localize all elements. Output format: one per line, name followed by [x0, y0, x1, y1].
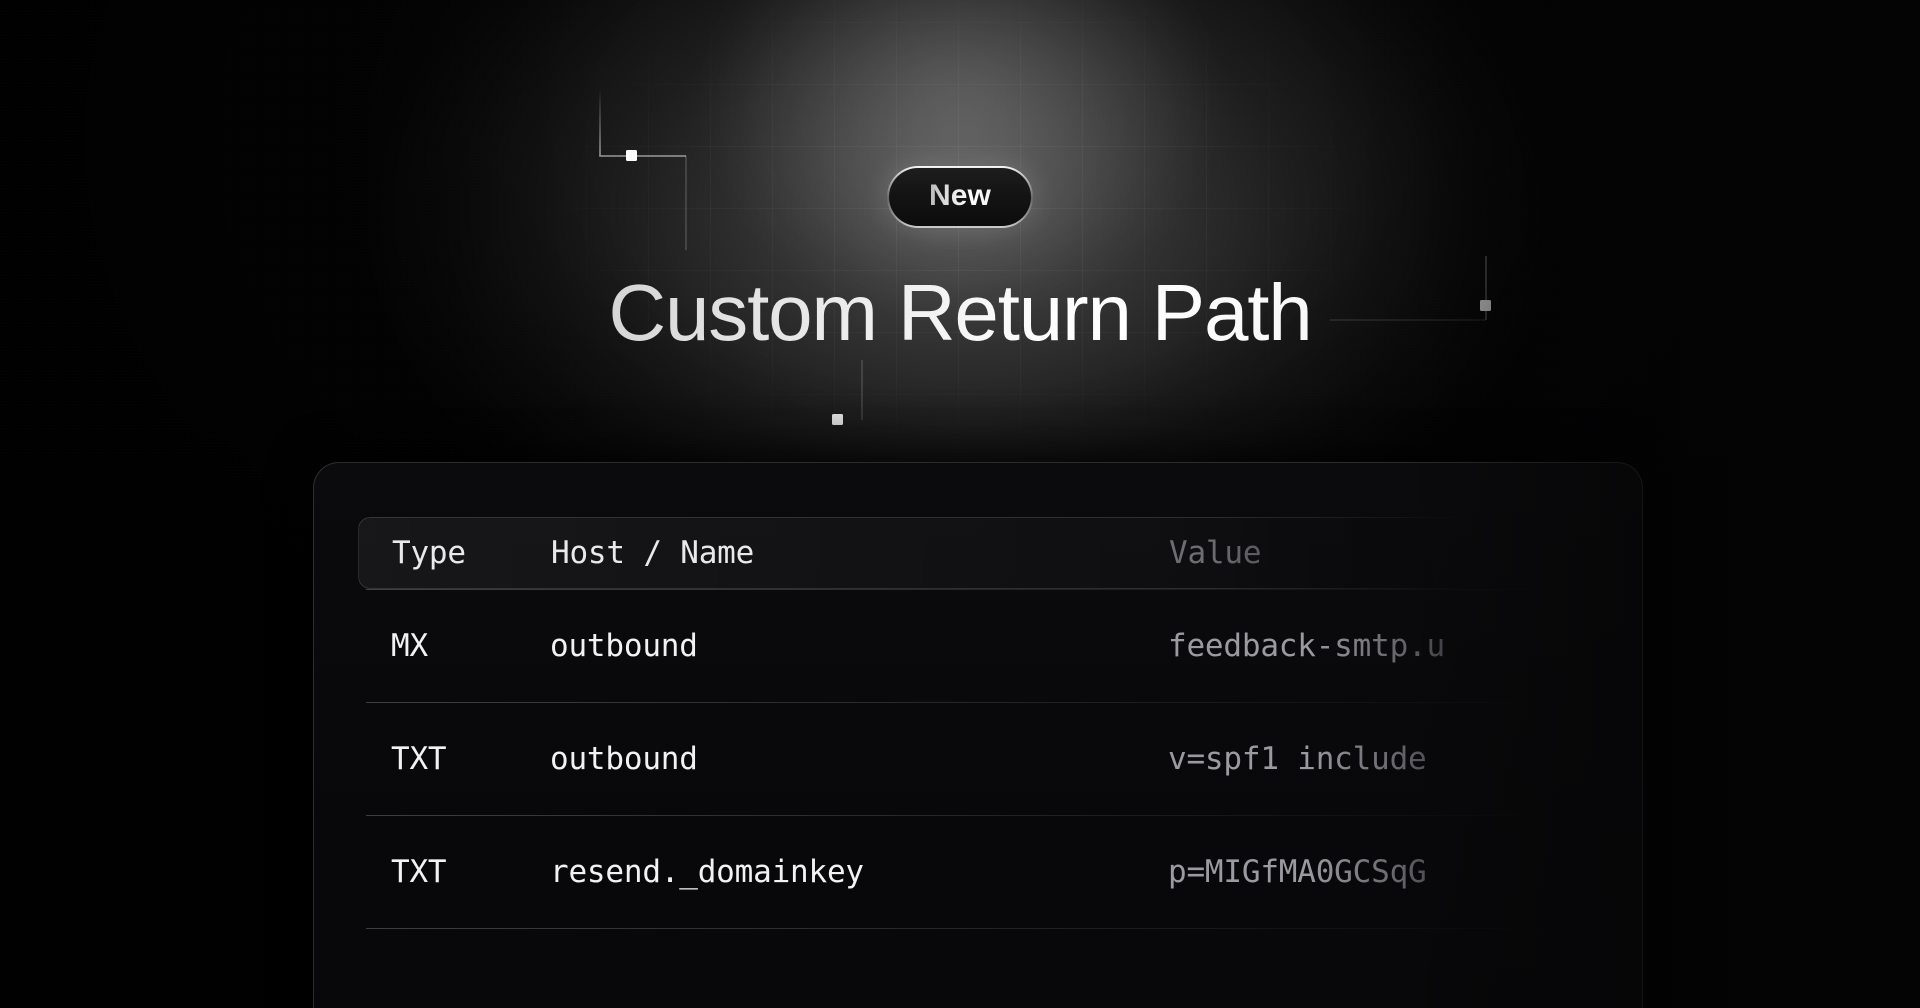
- column-header-type: Type: [359, 535, 551, 571]
- dns-table-header-row: Type Host / Name Value: [358, 517, 1478, 589]
- table-row[interactable]: MX outbound feedback-smtp.u: [358, 589, 1578, 702]
- cell-value: v=spf1 include: [1168, 741, 1578, 777]
- dns-table: Type Host / Name Value MX outbound feedb…: [358, 517, 1642, 929]
- new-badge[interactable]: New: [887, 166, 1033, 228]
- column-header-value: Value: [1169, 535, 1477, 571]
- cell-value: feedback-smtp.u: [1168, 628, 1578, 664]
- cell-type: MX: [358, 628, 550, 664]
- hero-banner: New Custom Return Path Type Host / Name …: [0, 0, 1920, 1008]
- cell-value: p=MIGfMA0GCSqG: [1168, 854, 1578, 890]
- column-header-host: Host / Name: [551, 535, 1169, 571]
- cell-host: outbound: [550, 628, 1168, 664]
- table-row[interactable]: TXT resend._domainkey p=MIGfMA0GCSqG: [358, 815, 1578, 928]
- cell-host: resend._domainkey: [550, 854, 1168, 890]
- table-row[interactable]: TXT outbound v=spf1 include: [358, 702, 1578, 815]
- new-badge-inner: New: [889, 168, 1031, 226]
- new-badge-label: New: [929, 181, 991, 211]
- page-title: Custom Return Path: [0, 266, 1920, 360]
- cell-type: TXT: [358, 741, 550, 777]
- table-bottom-divider: [358, 928, 1578, 929]
- dns-records-panel: Type Host / Name Value MX outbound feedb…: [313, 462, 1643, 1008]
- cell-type: TXT: [358, 854, 550, 890]
- cell-host: outbound: [550, 741, 1168, 777]
